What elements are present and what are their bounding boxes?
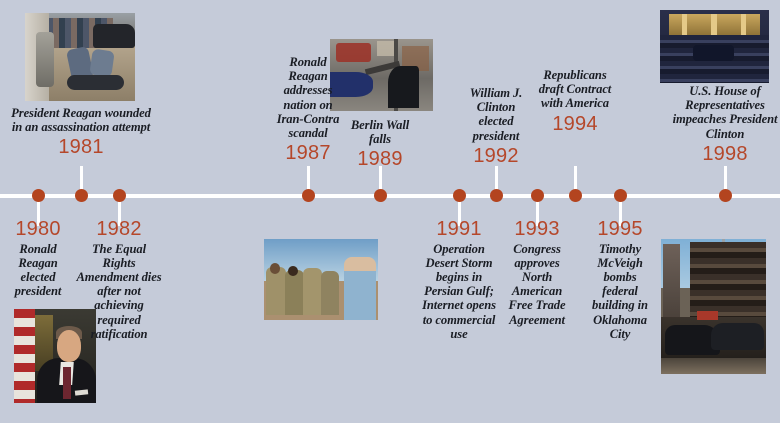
event-year: 1998 — [668, 143, 780, 167]
timeline-figure: 1980Ronald Reagan elected presidentPresi… — [0, 0, 780, 423]
timeline-event: U.S. House of Representatives impeaches … — [668, 84, 780, 166]
timeline-dot[interactable] — [374, 189, 387, 202]
event-caption: Berlin Wall falls — [339, 118, 421, 146]
event-caption: Ronald Reagan addresses nation on Iran-C… — [275, 55, 341, 140]
event-year: 1993 — [504, 218, 570, 242]
event-year: 1987 — [275, 142, 341, 166]
timeline-dot[interactable] — [113, 189, 126, 202]
timeline-dot[interactable] — [302, 189, 315, 202]
timeline-event: 1980Ronald Reagan elected president — [2, 218, 74, 298]
event-year: 1991 — [422, 218, 496, 242]
timeline-dot[interactable] — [490, 189, 503, 202]
event-caption: Ronald Reagan elected president — [2, 242, 74, 299]
timeline-event: Ronald Reagan addresses nation on Iran-C… — [275, 55, 341, 166]
event-caption: Congress approves North American Free Tr… — [504, 242, 570, 327]
timeline-dot[interactable] — [614, 189, 627, 202]
timeline-dot[interactable] — [531, 189, 544, 202]
timeline-event: Berlin Wall falls1989 — [339, 118, 421, 172]
timeline-event: President Reagan wounded in an assassina… — [11, 106, 151, 160]
event-caption: President Reagan wounded in an assassina… — [11, 106, 151, 134]
timeline-dot[interactable] — [719, 189, 732, 202]
timeline-dot[interactable] — [453, 189, 466, 202]
timeline-event: William J. Clinton elected president1992 — [462, 86, 530, 168]
event-year: 1994 — [537, 113, 613, 137]
event-year: 1992 — [462, 145, 530, 169]
event-year: 1989 — [339, 148, 421, 172]
desert-storm-troops-photo — [264, 239, 378, 320]
house-of-representatives-chamber-photo — [660, 10, 769, 83]
event-caption: Republicans draft Contract with America — [537, 68, 613, 111]
event-year: 1995 — [588, 218, 652, 242]
timeline-event: 1995Timothy McVeigh bombs federal buildi… — [588, 218, 652, 341]
event-caption: Timothy McVeigh bombs federal building i… — [588, 242, 652, 342]
event-caption: U.S. House of Representatives impeaches … — [668, 84, 780, 141]
timeline-event: 1991Operation Desert Storm begins in Per… — [422, 218, 496, 341]
event-year: 1981 — [11, 136, 151, 160]
oklahoma-city-bombing-photo — [661, 239, 766, 374]
timeline-event: 1993Congress approves North American Fre… — [504, 218, 570, 327]
event-caption: Operation Desert Storm begins in Persian… — [422, 242, 496, 342]
event-year: 1982 — [76, 218, 162, 242]
event-caption: The Equal Rights Amendment dies after no… — [76, 242, 162, 342]
event-caption: William J. Clinton elected president — [462, 86, 530, 143]
timeline-event: Republicans draft Contract with America1… — [537, 68, 613, 136]
event-year: 1980 — [2, 218, 74, 242]
timeline-dot[interactable] — [32, 189, 45, 202]
timeline-dot[interactable] — [569, 189, 582, 202]
reagan-assassination-attempt-photo — [25, 13, 135, 101]
timeline-event: 1982The Equal Rights Amendment dies afte… — [76, 218, 162, 341]
berlin-wall-falls-photo — [330, 39, 433, 111]
timeline-dot[interactable] — [75, 189, 88, 202]
